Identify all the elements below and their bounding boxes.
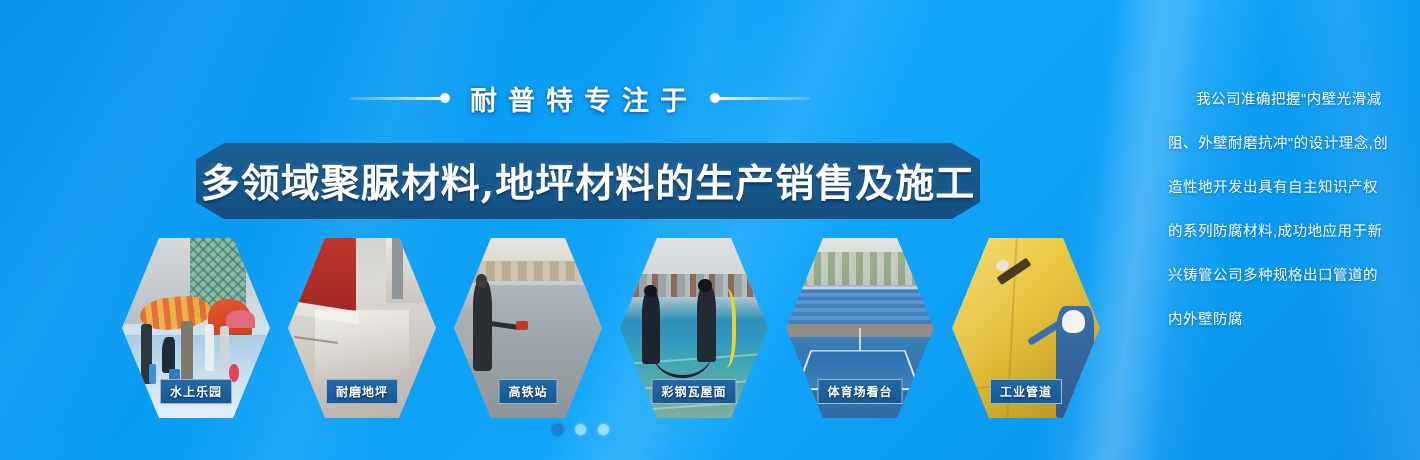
decor-dot-icon [710,93,720,103]
decor-dot-icon [440,93,450,103]
gallery-item-rail-station[interactable]: 高铁站 [454,238,602,418]
title-banner: 多领域聚脲材料,地坪材料的生产销售及施工 [196,143,980,219]
decor-rule-right [714,97,810,100]
gallery-item-steel-roof[interactable]: 彩钢瓦屋面 [620,238,768,418]
page-title: 多领域聚脲材料,地坪材料的生产销售及施工 [201,153,976,209]
pagination-dot-1[interactable] [552,424,563,435]
pagination-dot-2[interactable] [575,424,586,435]
hex-caption: 水上乐园 [160,379,232,404]
title-banner-shape: 多领域聚脲材料,地坪材料的生产销售及施工 [196,143,980,219]
hex-gallery: 水上乐园 耐磨地坪 高铁站 [122,238,1132,418]
hex-caption: 耐磨地坪 [326,379,398,404]
gallery-item-stadium-stand[interactable]: 体育场看台 [786,238,934,418]
hex-caption: 工业管道 [990,379,1062,404]
gallery-item-water-park[interactable]: 水上乐园 [122,238,270,418]
promo-banner: 耐普特专注于 多领域聚脲材料,地坪材料的生产销售及施工 水上乐园 [0,0,1420,460]
description-line: 造性地开发出具有自主知识产权 [1168,166,1390,210]
hex-caption: 高铁站 [498,379,557,404]
description-line: 内外壁防腐 [1168,298,1390,342]
description-paragraph: 我公司准确把握"内壁光滑减 阻、外壁耐磨抗冲"的设计理念,创 造性地开发出具有自… [1168,78,1390,342]
description-line: 阻、外壁耐磨抗冲"的设计理念,创 [1168,122,1390,166]
hex-caption: 体育场看台 [817,379,902,404]
eyebrow-text: 耐普特专注于 [462,79,698,118]
description-line: 的系列防腐材料,成功地应用于新 [1168,210,1390,254]
decor-rule-left [350,97,446,100]
gallery-item-wear-resistant-floor[interactable]: 耐磨地坪 [288,238,436,418]
description-line: 兴铸管公司多种规格出口管道的 [1168,254,1390,298]
eyebrow-headline: 耐普特专注于 [0,78,1160,118]
gallery-item-industrial-pipe[interactable]: 工业管道 [952,238,1100,418]
hex-caption: 彩钢瓦屋面 [651,379,736,404]
carousel-pagination[interactable] [0,424,1160,435]
description-line: 我公司准确把握"内壁光滑减 [1168,78,1390,122]
pagination-dot-3[interactable] [598,424,609,435]
